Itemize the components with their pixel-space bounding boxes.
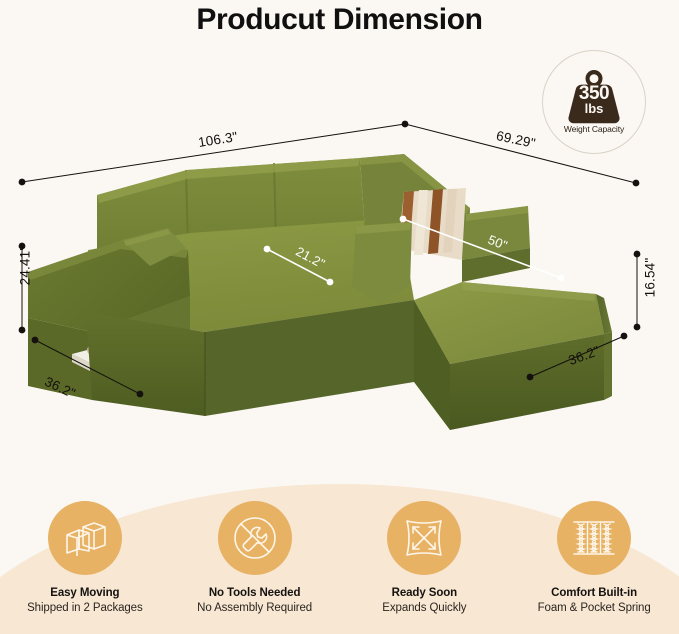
feature-subtitle: Foam & Pocket Spring xyxy=(513,601,675,616)
feature-title: Ready Soon xyxy=(343,586,505,601)
feature-title: Comfort Built-in xyxy=(513,586,675,601)
feature-item-comfort: Comfort Built-in Foam & Pocket Spring xyxy=(513,501,675,616)
page-title: Producut Dimension xyxy=(0,0,679,40)
weight-unit: lbs xyxy=(543,101,645,116)
feature-item-easy-moving: Easy Moving Shipped in 2 Packages xyxy=(4,501,166,616)
feature-subtitle: Expands Quickly xyxy=(343,601,505,616)
no-tools-wrench-icon xyxy=(218,501,292,575)
feature-title: No Tools Needed xyxy=(174,586,336,601)
dimension-label-overall-height: 24.41" xyxy=(17,246,32,286)
feature-title: Easy Moving xyxy=(4,586,166,601)
feature-item-no-tools: No Tools Needed No Assembly Required xyxy=(174,501,336,616)
feature-list: Easy Moving Shipped in 2 Packages No Too… xyxy=(0,501,679,616)
boxes-icon xyxy=(48,501,122,575)
dimension-label-chaise-height: 16.54" xyxy=(642,258,657,298)
feature-subtitle: Shipped in 2 Packages xyxy=(4,601,166,616)
sofa-illustration xyxy=(0,100,679,430)
expanding-cushion-icon xyxy=(387,501,461,575)
product-dimension-infographic: Producut Dimension 350 lbs Weight Capaci… xyxy=(0,0,679,634)
feature-subtitle: No Assembly Required xyxy=(174,601,336,616)
feature-item-ready-soon: Ready Soon Expands Quickly xyxy=(343,501,505,616)
pocket-spring-icon xyxy=(557,501,631,575)
